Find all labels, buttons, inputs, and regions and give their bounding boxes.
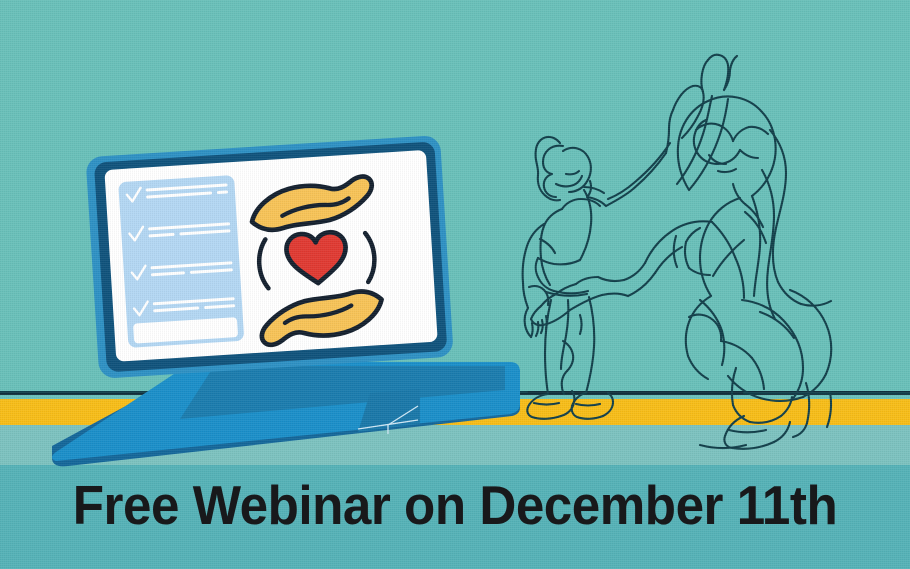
poster-canvas: Free Webinar on December 11th — [0, 0, 910, 569]
page-title: Free Webinar on December 11th — [32, 473, 878, 537]
laptop-base — [52, 362, 520, 466]
laptop-lid — [86, 135, 454, 379]
checklist-panel[interactable] — [115, 172, 248, 351]
